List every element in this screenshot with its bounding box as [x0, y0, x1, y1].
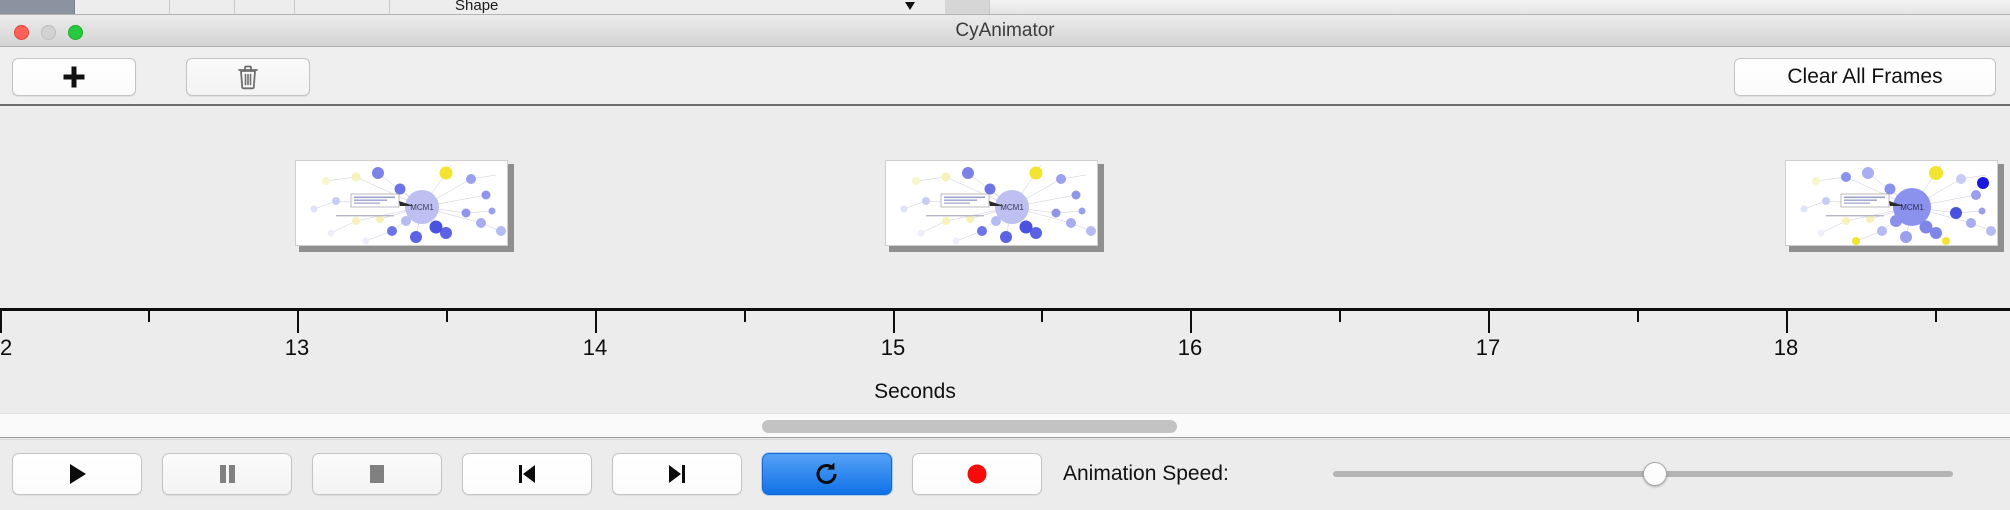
axis-tick	[744, 311, 746, 322]
caret-icon	[905, 2, 915, 10]
pause-icon	[214, 461, 240, 487]
timeline-axis: 12131415161718 Seconds	[0, 308, 2010, 413]
axis-tick-label: 18	[1774, 335, 1798, 361]
timeline-scrollbar[interactable]	[0, 413, 2010, 438]
loop-button[interactable]	[762, 453, 892, 495]
slider-thumb[interactable]	[1643, 462, 1667, 486]
record-button[interactable]	[912, 453, 1042, 495]
axis-tick-label: 16	[1178, 335, 1202, 361]
axis-tick	[297, 311, 299, 333]
trash-icon	[236, 64, 260, 90]
axis-tick	[1488, 311, 1490, 333]
axis-title-label: Seconds	[874, 380, 956, 403]
frame-thumbnail[interactable]: MCM1	[885, 160, 1100, 248]
axis-tick	[1190, 311, 1192, 333]
loop-icon	[813, 460, 841, 488]
animation-speed-label: Animation Speed:	[1063, 453, 1229, 495]
axis-tick	[0, 311, 2, 333]
axis-tick	[148, 311, 150, 322]
clear-all-frames-label: Clear All Frames	[1787, 65, 1942, 89]
axis-tick	[1637, 311, 1639, 322]
record-icon	[964, 461, 990, 487]
axis-tick	[893, 311, 895, 333]
add-frame-button[interactable]	[12, 58, 136, 96]
background-window-strip: Shape	[0, 0, 2010, 15]
animation-speed-slider[interactable]	[1333, 453, 1953, 495]
background-window-label: Shape	[455, 0, 498, 14]
axis-tick-label: 14	[583, 335, 607, 361]
network-graph-thumbnail: MCM1	[886, 161, 1098, 246]
frame-thumbnail[interactable]: MCM1	[295, 160, 510, 248]
axis-tick	[1935, 311, 1937, 322]
bg-chip	[295, 0, 390, 15]
scrollbar-thumb[interactable]	[762, 420, 1177, 433]
skip-back-icon	[514, 461, 540, 487]
title-bar: CyAnimator	[0, 15, 2010, 47]
bg-chip	[170, 0, 235, 15]
bg-chip	[945, 0, 990, 15]
axis-tick	[595, 311, 597, 333]
play-button[interactable]	[12, 453, 142, 495]
frames-canvas[interactable]: MCM1	[0, 108, 2010, 308]
network-graph-thumbnail: MCM1	[1786, 161, 1998, 246]
frame-thumbnail[interactable]: MCM1	[1785, 160, 2000, 248]
bg-chip	[75, 0, 170, 15]
frame-sheet: MCM1	[1785, 160, 1998, 246]
clear-all-frames-button[interactable]: Clear All Frames	[1734, 58, 1996, 96]
axis-tick	[1339, 311, 1341, 322]
axis-line	[0, 308, 2010, 311]
frames-toolbar: Clear All Frames	[0, 47, 2010, 106]
axis-tick-label: 12	[0, 335, 12, 361]
svg-text:MCM1: MCM1	[1900, 203, 1924, 212]
frame-sheet: MCM1	[885, 160, 1098, 246]
stop-icon	[364, 461, 390, 487]
play-icon	[64, 461, 90, 487]
skip-forward-icon	[664, 461, 690, 487]
axis-tick-label: 13	[285, 335, 309, 361]
cyanimator-window: Shape CyAnimator Clear All Frames	[0, 0, 2010, 510]
bg-chip	[235, 0, 295, 15]
window-title: CyAnimator	[0, 15, 2010, 47]
axis-title: Seconds	[0, 380, 2010, 404]
axis-tick	[446, 311, 448, 322]
axis-tick	[1041, 311, 1043, 322]
pause-button[interactable]	[162, 453, 292, 495]
axis-tick-label: 15	[881, 335, 905, 361]
skip-back-button[interactable]	[462, 453, 592, 495]
bg-chip	[0, 0, 75, 15]
svg-text:MCM1: MCM1	[410, 203, 434, 212]
axis-tick-label: 17	[1476, 335, 1500, 361]
svg-text:MCM1: MCM1	[1000, 203, 1024, 212]
frame-sheet: MCM1	[295, 160, 508, 246]
playback-control-bar: Animation Speed:	[0, 439, 2010, 510]
axis-tick	[1786, 311, 1788, 333]
plus-icon	[61, 64, 87, 90]
stop-button[interactable]	[312, 453, 442, 495]
skip-forward-button[interactable]	[612, 453, 742, 495]
network-graph-thumbnail: MCM1	[296, 161, 508, 246]
delete-frame-button[interactable]	[186, 58, 310, 96]
